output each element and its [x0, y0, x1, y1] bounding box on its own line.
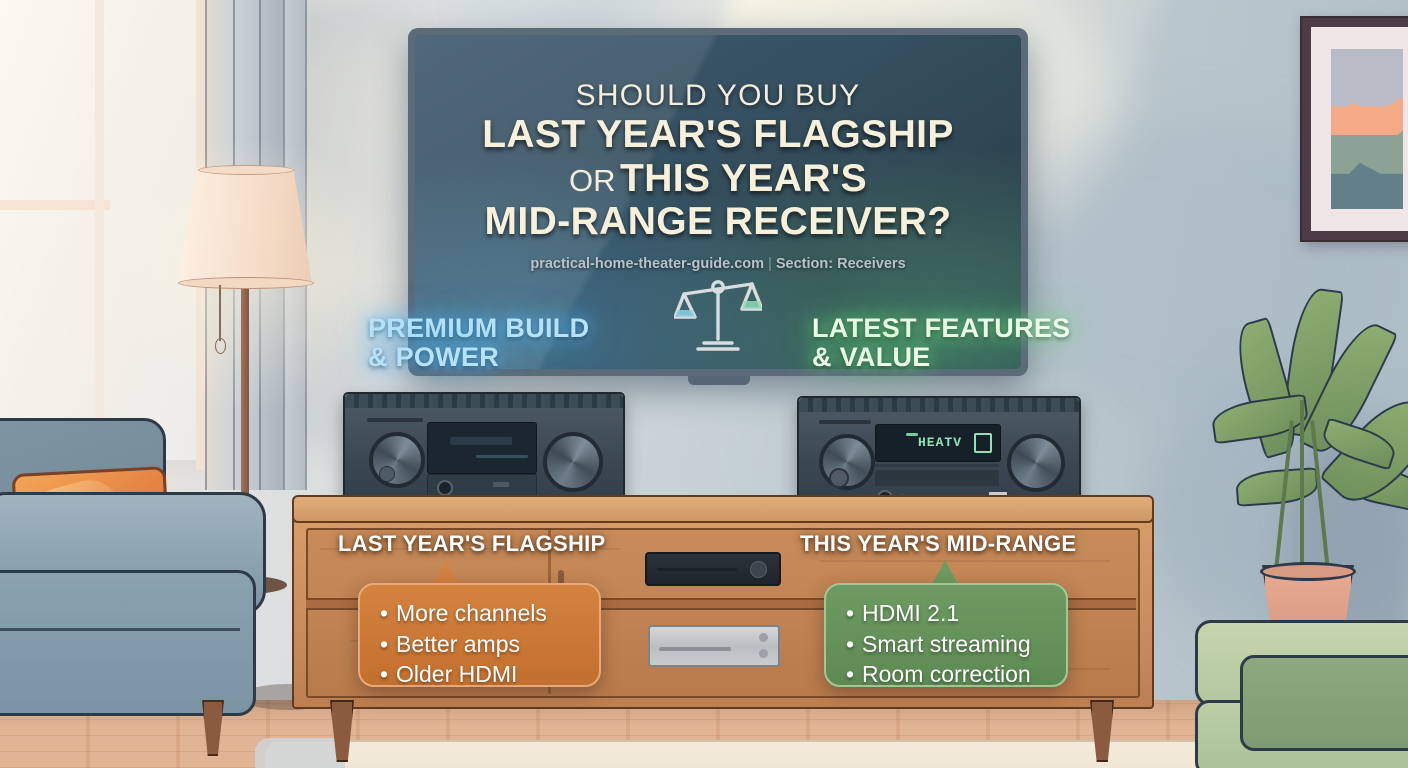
receiver-faceplate [345, 408, 623, 502]
bullet-icon: • [846, 659, 862, 690]
display-labels [476, 455, 528, 458]
receiver-brand-plate [367, 418, 423, 422]
caption-right: THIS YEAR'S MID-RANGE [800, 531, 1076, 557]
callout-left-item-text: Older HDMI [396, 661, 517, 687]
area-rug-shadow [255, 738, 345, 768]
plant-stem [1300, 400, 1304, 570]
window-mullion-horizontal [0, 200, 110, 210]
callout-left-item-text: More channels [396, 600, 547, 626]
receiver-button-row[interactable] [875, 470, 999, 486]
receiver-brand-plate [819, 420, 871, 424]
headline-line-3-row: OR THIS YEAR'S [415, 157, 1021, 201]
callout-left: •More channels •Better amps •Older HDMI [358, 583, 601, 687]
callout-right-item: •Smart streaming [846, 629, 1046, 660]
device-button[interactable] [759, 649, 768, 658]
callout-right-item-text: HDMI 2.1 [862, 600, 959, 626]
bullet-icon: • [380, 659, 396, 690]
callout-right-item: •Room correction [846, 659, 1046, 690]
scene-root: SHOULD YOU BUY LAST YEAR'S FLAGSHIP OR T… [0, 0, 1408, 768]
plant-pot-rim [1260, 562, 1356, 581]
lamp-pull-cord[interactable] [219, 285, 221, 341]
art-hill-orange [1331, 94, 1403, 136]
bullet-icon: • [380, 629, 396, 660]
headline-line-4: MID-RANGE RECEIVER? [415, 200, 1021, 244]
blue-sofa-seat [0, 570, 256, 716]
source-site: practical-home-theater-guide.com [530, 256, 764, 272]
glow-label-left-line2: & POWER [368, 343, 589, 372]
callout-right-item-text: Smart streaming [862, 631, 1031, 657]
device-dial[interactable] [750, 561, 767, 578]
tv-headline-block: SHOULD YOU BUY LAST YEAR'S FLAGSHIP OR T… [415, 79, 1021, 272]
receiver-faceplate: HEATV [799, 412, 1079, 502]
callout-right: •HDMI 2.1 •Smart streaming •Room correct… [824, 583, 1068, 687]
receiver-power-button-right[interactable] [829, 468, 849, 488]
headline-line-1: SHOULD YOU BUY [415, 79, 1021, 113]
display-dash [906, 433, 918, 436]
area-rug [265, 740, 1275, 768]
callout-left-item: •More channels [380, 598, 579, 629]
av-device-black[interactable] [645, 552, 781, 586]
device-slot [657, 568, 737, 571]
receiver-power-button-left[interactable] [379, 466, 395, 482]
lamp-shade-top [198, 165, 294, 175]
callout-left-item: •Better amps [380, 629, 579, 660]
glow-label-left-line1: PREMIUM BUILD [368, 314, 589, 343]
lamp-shade [178, 168, 312, 283]
caption-left: LAST YEAR'S FLAGSHIP [338, 531, 606, 557]
headline-line-3: THIS YEAR'S [620, 157, 867, 200]
blue-sofa-seam [0, 628, 240, 631]
bullet-icon: • [846, 598, 862, 629]
picture-artwork [1331, 49, 1403, 209]
bullet-icon: • [846, 629, 862, 660]
receiver-usb-port-left[interactable] [493, 482, 509, 487]
glow-label-right: LATEST FEATURES & VALUE [812, 314, 1071, 372]
tv-source-line: practical-home-theater-guide.com | Secti… [415, 256, 1021, 272]
callout-right-item: •HDMI 2.1 [846, 598, 1046, 629]
this-years-mid-range-receiver[interactable]: HEATV [797, 396, 1081, 504]
framed-landscape-art [1300, 16, 1408, 242]
wood-grain [820, 560, 1110, 562]
source-separator: | [768, 256, 772, 272]
receiver-display-left [427, 422, 537, 474]
callout-left-item-text: Better amps [396, 631, 520, 657]
receiver-volume-knob-left[interactable] [369, 432, 425, 488]
lamp-shade-bottom [178, 277, 314, 289]
device-disc-slot [659, 647, 731, 651]
green-sofa-cushion [1240, 655, 1408, 751]
receiver-display-right: HEATV [875, 424, 1001, 462]
callout-right-item-text: Room correction [862, 661, 1031, 687]
headline-line-2: LAST YEAR'S FLAGSHIP [415, 113, 1021, 157]
balance-scale-icon [674, 277, 762, 360]
display-bar [450, 437, 512, 445]
last-years-flagship-receiver[interactable] [343, 392, 625, 504]
callout-right-list: •HDMI 2.1 •Smart streaming •Room correct… [846, 598, 1046, 690]
picture-mat [1311, 27, 1408, 231]
window-mullion-vertical [95, 0, 104, 470]
console-top-surface [292, 495, 1154, 523]
callout-left-list: •More channels •Better amps •Older HDMI [380, 598, 579, 690]
receiver-selector-knob-right[interactable] [543, 432, 603, 492]
glow-label-right-line2: & VALUE [812, 343, 1071, 372]
bullet-icon: • [380, 598, 396, 629]
receiver-display-text: HEATV [918, 435, 962, 450]
device-button[interactable] [759, 633, 768, 642]
receiver-selector-knob-right[interactable] [1007, 434, 1065, 492]
tv-stand-foot [688, 376, 750, 385]
receiver-divider [875, 464, 999, 467]
receiver-headphone-jack-left[interactable] [437, 480, 453, 496]
glow-label-left: PREMIUM BUILD & POWER [368, 314, 589, 372]
source-section: Section: Receivers [776, 256, 906, 272]
lamp-pull-knob[interactable] [215, 338, 226, 354]
av-device-silver[interactable] [648, 625, 780, 667]
display-icon [974, 433, 992, 453]
callout-left-item: •Older HDMI [380, 659, 579, 690]
glow-label-right-line1: LATEST FEATURES [812, 314, 1071, 343]
headline-or: OR [569, 163, 616, 198]
